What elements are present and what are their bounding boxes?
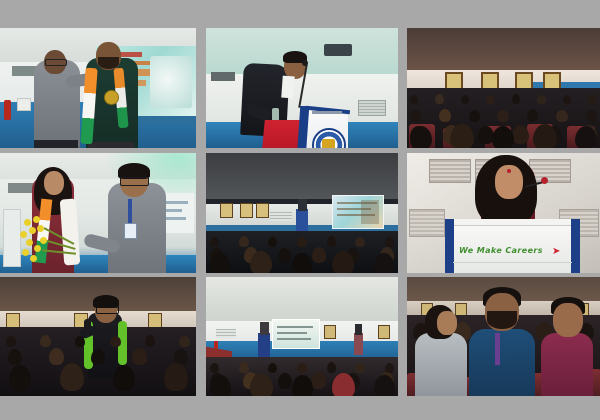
photo-5-image [206, 153, 398, 273]
photo-9-image [407, 277, 600, 396]
swoosh-icon: ➤ [552, 247, 566, 256]
photo-thumbnail-6[interactable]: We Make Careers ➤ [407, 153, 600, 273]
photo-grid: We Make Careers ➤ [0, 28, 600, 396]
photo-8-image [206, 277, 398, 396]
photo-thumbnail-5[interactable] [206, 153, 398, 273]
photo-4-image [0, 153, 196, 273]
photo-1-image [0, 28, 196, 148]
photo-thumbnail-4[interactable] [0, 153, 196, 273]
photo-3-image [407, 28, 600, 148]
photo-thumbnail-7[interactable] [0, 277, 196, 396]
photo-6-image: We Make Careers ➤ [407, 153, 600, 273]
photo-thumbnail-9[interactable] [407, 277, 600, 396]
bouquet [20, 215, 80, 271]
photo-thumbnail-1[interactable] [0, 28, 196, 148]
photo-thumbnail-3[interactable] [407, 28, 600, 148]
photo-7-image [0, 277, 196, 396]
photo-thumbnail-2[interactable] [206, 28, 398, 148]
podium-slogan: We Make Careers [459, 246, 566, 255]
photo-2-image [206, 28, 398, 148]
photo-thumbnail-8[interactable] [206, 277, 398, 396]
